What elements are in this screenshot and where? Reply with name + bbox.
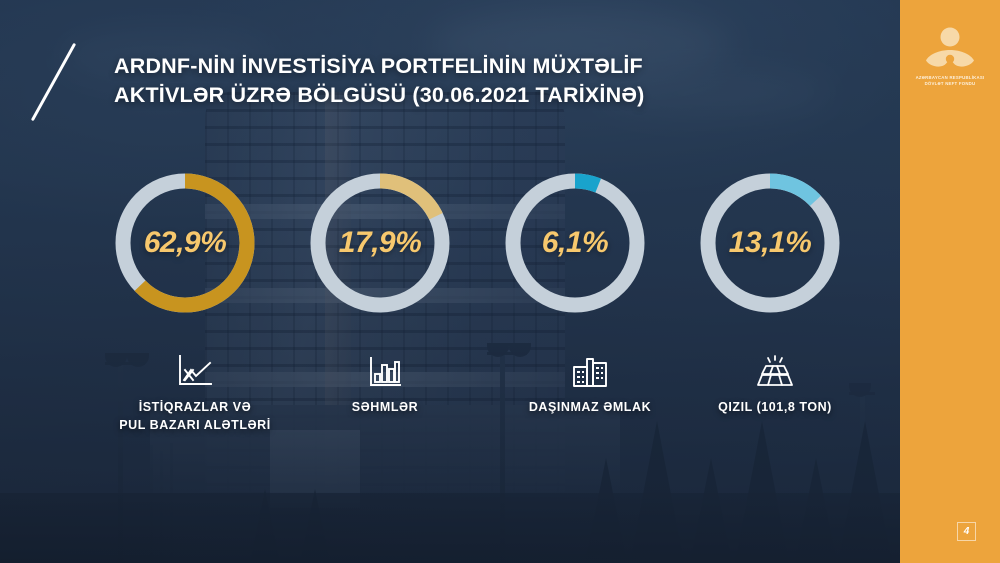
slide-canvas: ARDNF-NİN İNVESTİSİYA PORTFELİNİN MÜXTƏL… xyxy=(0,0,1000,563)
donut-chart-equities: 17,9% xyxy=(305,168,455,318)
legend-label-equities: SƏHMLƏR xyxy=(270,399,500,417)
donut-chart-real-estate: 6,1% xyxy=(500,168,650,318)
legend-item-gold: QIZIL (101,8 TON) xyxy=(660,352,890,417)
sofaz-logo: AZƏRBAYCAN RESPUBLİKASI DÖVLƏT NEFT FOND… xyxy=(900,26,1000,88)
donut-value-label: 6,1% xyxy=(500,168,650,318)
legend-label-line-1: QIZIL (101,8 TON) xyxy=(660,399,890,417)
page-number-badge: 4 xyxy=(957,522,976,541)
legend-label-line-2: PUL BAZARI ALƏTLƏRİ xyxy=(80,417,310,435)
sofaz-logo-line-2: DÖVLƏT NEFT FONDU xyxy=(900,81,1000,87)
donut-value-label: 62,9% xyxy=(110,168,260,318)
page-title: ARDNF-NİN İNVESTİSİYA PORTFELİNİN MÜXTƏL… xyxy=(114,52,754,111)
page-title-line-2: AKTİVLƏR ÜZRƏ BÖLGÜSÜ (30.06.2021 TARİXİ… xyxy=(114,81,754,110)
donut-chart-gold: 13,1% xyxy=(695,168,845,318)
brand-sidebar: AZƏRBAYCAN RESPUBLİKASI DÖVLƏT NEFT FOND… xyxy=(900,0,1000,563)
donut-chart-bonds: 62,9% xyxy=(110,168,260,318)
sofaz-logo-text: AZƏRBAYCAN RESPUBLİKASI DÖVLƏT NEFT FOND… xyxy=(900,75,1000,88)
donut-value-label: 17,9% xyxy=(305,168,455,318)
donut-chart-row: 62,9% 17,9% 6,1% 13,1% xyxy=(0,168,900,318)
page-title-line-1: ARDNF-NİN İNVESTİSİYA PORTFELİNİN MÜXTƏL… xyxy=(114,52,754,81)
legend-item-equities: SƏHMLƏR xyxy=(270,352,500,417)
sofaz-logo-icon xyxy=(921,26,979,70)
donut-value-label: 13,1% xyxy=(695,168,845,318)
category-legend: İSTİQRAZLAR VƏ PUL BAZARI ALƏTLƏRİ SƏHML… xyxy=(0,352,900,442)
legend-label-line-1: SƏHMLƏR xyxy=(270,399,500,417)
bar-chart-icon xyxy=(270,352,500,388)
legend-label-gold: QIZIL (101,8 TON) xyxy=(660,399,890,417)
gold-bars-icon xyxy=(660,352,890,388)
